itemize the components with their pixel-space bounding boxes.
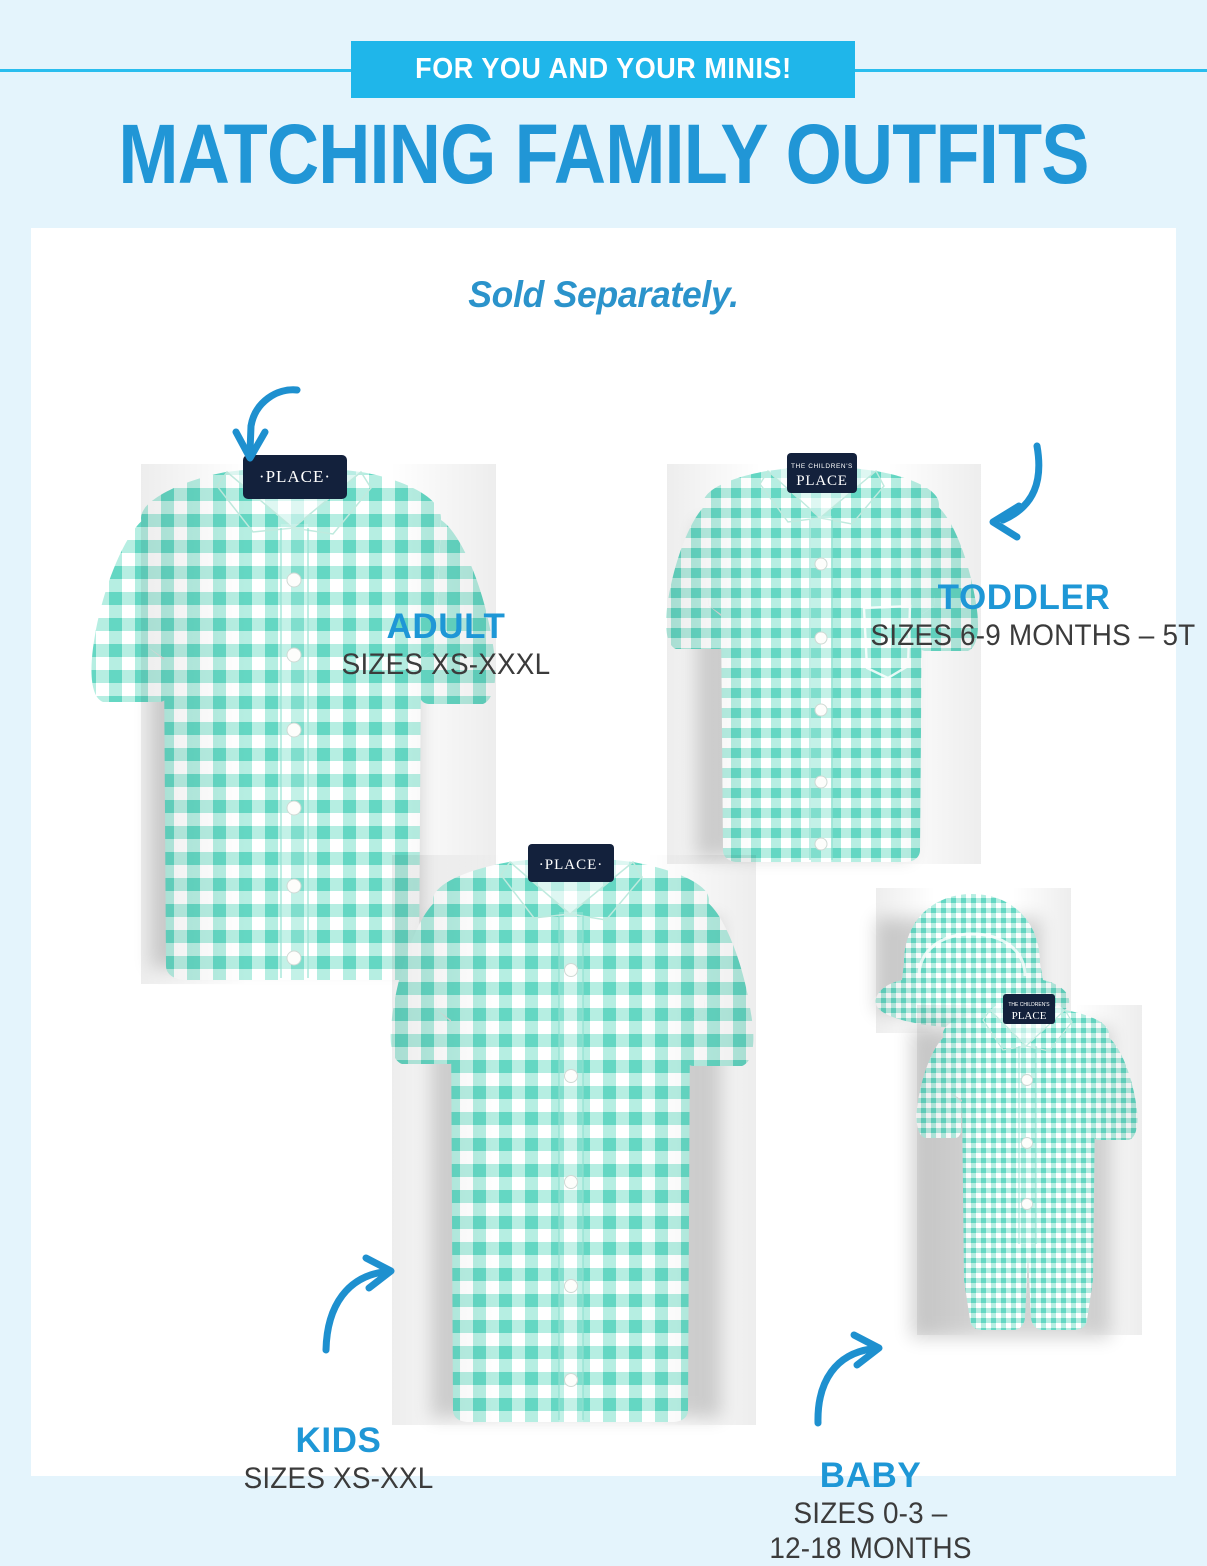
garments-illustration: ·PLACE· [31, 228, 1176, 1476]
infographic-page: FOR YOU AND YOUR MINIS! MATCHING FAMILY … [0, 0, 1207, 1500]
page-title: MATCHING FAMILY OUTFITS [84, 112, 1122, 196]
category-label-adult: ADULT SIZES XS-XXXL [326, 607, 566, 682]
category-sizes-baby-line2: 12-18 MONTHS [752, 1531, 989, 1566]
category-name-adult: ADULT [326, 607, 566, 647]
category-sizes-kids: SIZES XS-XXL [234, 1461, 443, 1496]
banner-label: FOR YOU AND YOUR MINIS! [415, 53, 791, 86]
garment-kids-shirt: ·PLACE· [391, 844, 756, 1425]
curved-arrow-down-left-icon-toddler [993, 446, 1039, 537]
curved-arrow-up-right-icon-kids [326, 1258, 391, 1350]
category-sizes-baby-line1: SIZES 0-3 – [752, 1496, 989, 1531]
category-sizes-adult: SIZES XS-XXXL [334, 647, 557, 682]
curved-arrow-down-left-icon-adult [236, 390, 297, 458]
garment-toddler-shirt: THE CHILDREN'S PLACE [666, 453, 981, 864]
category-sizes-toddler: SIZES 6-9 MONTHS – 5T [871, 618, 1178, 653]
curved-arrow-up-right-icon-baby [818, 1335, 879, 1423]
category-label-kids: KIDS SIZES XS-XXL [226, 1421, 451, 1496]
category-name-kids: KIDS [226, 1421, 451, 1461]
category-label-baby: BABY SIZES 0-3 – 12-18 MONTHS [743, 1456, 998, 1566]
banner-for-you-and-your-minis: FOR YOU AND YOUR MINIS! [351, 41, 855, 98]
category-label-toddler: TODDLER SIZES 6-9 MONTHS – 5T [859, 578, 1189, 653]
category-name-toddler: TODDLER [859, 578, 1189, 618]
garment-baby-romper: THE CHILDREN'S PLACE [911, 994, 1142, 1338]
content-panel: Sold Separately. [31, 228, 1176, 1476]
category-name-baby: BABY [743, 1456, 998, 1496]
